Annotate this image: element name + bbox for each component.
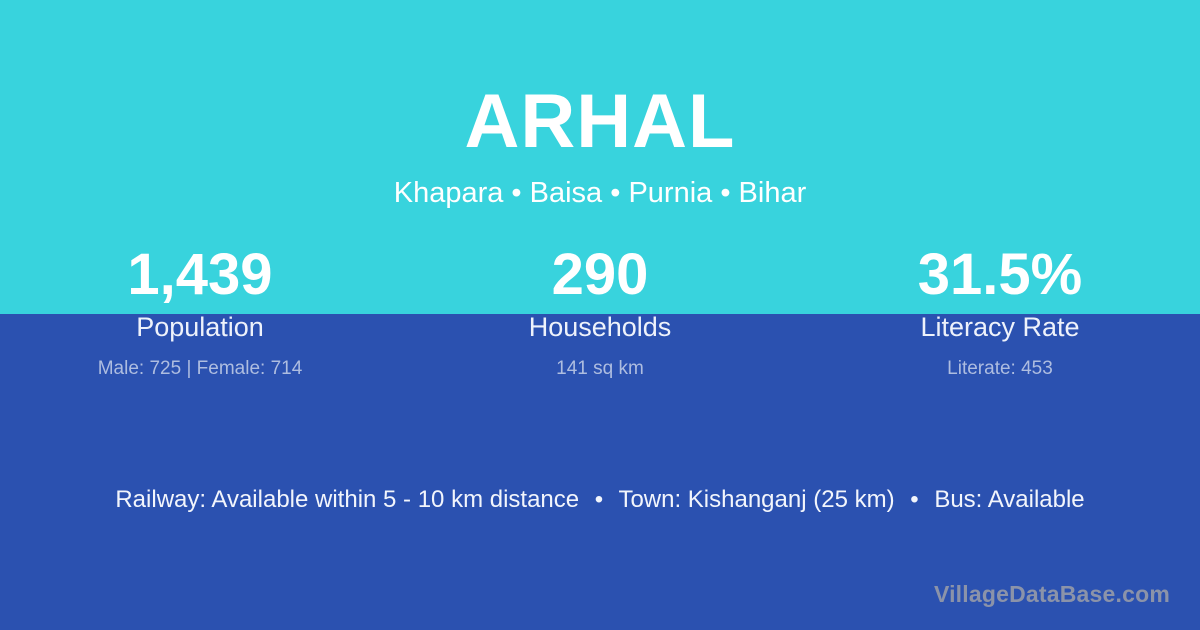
stat-households: 290 Households 141 sq km [400, 246, 800, 378]
amenity-separator-2: • [901, 486, 927, 513]
stat-households-area: 141 sq km [400, 341, 800, 378]
stat-literacy-rate-value: 31.5% [800, 246, 1200, 308]
card-header: ARHAL Khapara • Baisa • Purnia • Bihar [0, 0, 1200, 208]
breadcrumb: Khapara • Baisa • Purnia • Bihar [0, 160, 1200, 208]
village-info-card: ARHAL Khapara • Baisa • Purnia • Bihar 1… [0, 0, 1200, 630]
amenity-railway: Railway: Available within 5 - 10 km dist… [115, 486, 579, 513]
stat-households-label: Households [400, 308, 800, 341]
stat-population-breakdown: Male: 725 | Female: 714 [0, 341, 400, 378]
stat-households-value: 290 [400, 246, 800, 308]
amenities-line: Railway: Available within 5 - 10 km dist… [0, 486, 1200, 515]
stat-literacy-rate: 31.5% Literacy Rate Literate: 453 [800, 246, 1200, 378]
stat-literacy-rate-label: Literacy Rate [800, 308, 1200, 341]
site-brand: VillageDataBase.com [934, 583, 1170, 606]
amenity-nearest-town: Town: Kishanganj (25 km) [618, 486, 894, 513]
amenity-separator-1: • [586, 486, 612, 513]
page-title: ARHAL [0, 0, 1200, 160]
stat-population-label: Population [0, 308, 400, 341]
stat-population-value: 1,439 [0, 246, 400, 308]
stats-row: 1,439 Population Male: 725 | Female: 714… [0, 246, 1200, 378]
amenity-bus: Bus: Available [934, 486, 1084, 513]
stat-literacy-count: Literate: 453 [800, 341, 1200, 378]
stat-population: 1,439 Population Male: 725 | Female: 714 [0, 246, 400, 378]
